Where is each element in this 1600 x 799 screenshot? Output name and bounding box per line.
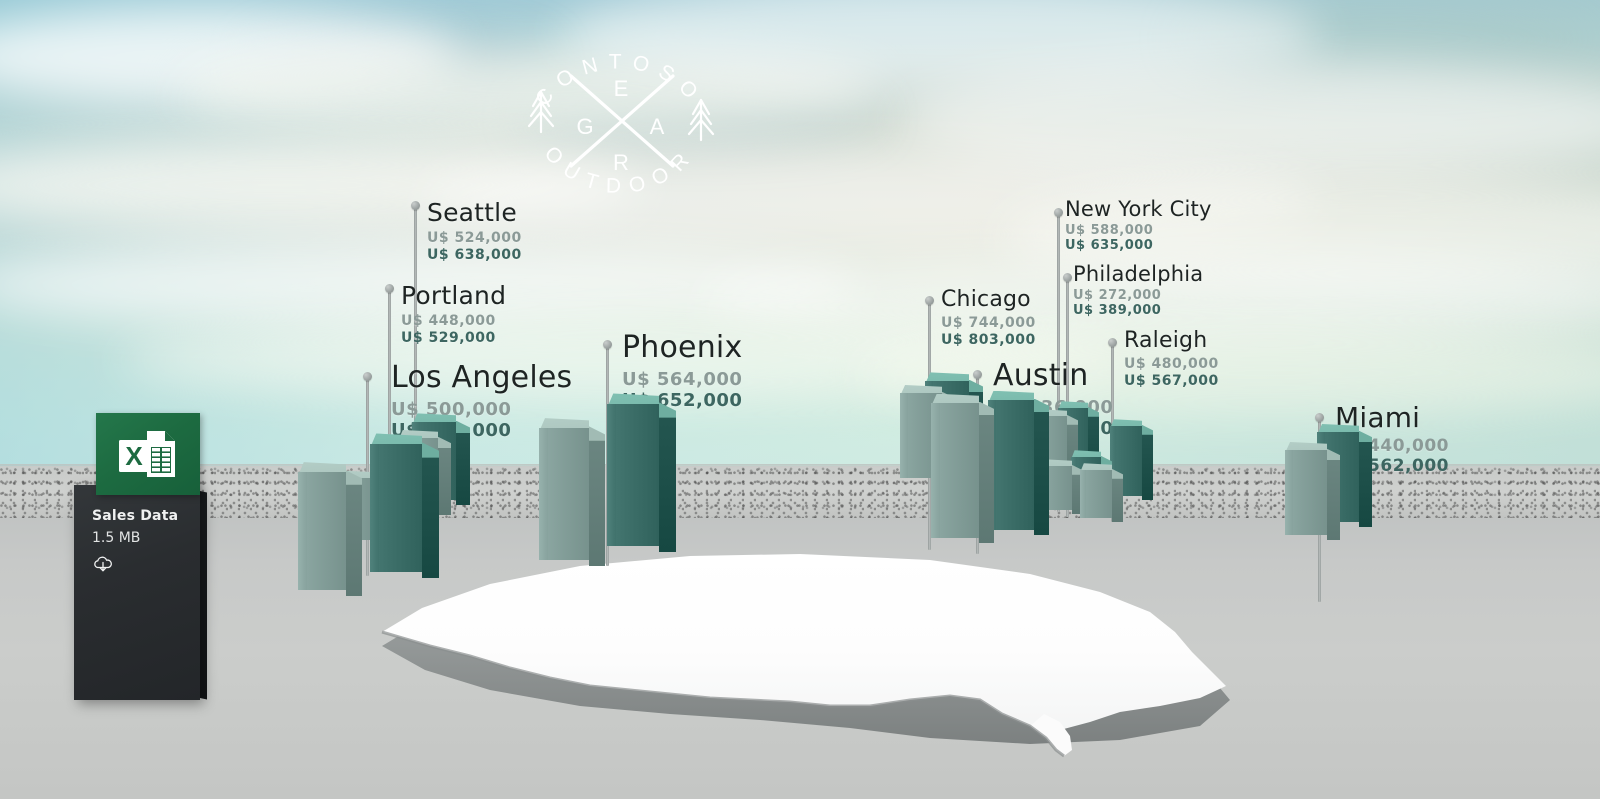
sales-data-file-card[interactable]: X Sales Data 1.5 MB [74,413,206,702]
city-value-current: U$ 389,000 [1073,303,1203,318]
city-bars-layer [0,0,1600,799]
file-size-label: 1.5 MB [92,530,140,546]
city-value-previous: U$ 448,000 [401,313,506,330]
bar-side-face [346,481,362,596]
city-value-previous: U$ 524,000 [427,230,522,247]
city-label[interactable]: PhiladelphiaU$ 272,000U$ 389,000 [1073,263,1203,319]
city-name-label: Los Angeles [391,362,572,394]
bar-left-bevel [1285,450,1293,535]
city-pole-dot[interactable] [1063,273,1072,282]
bar-left-bevel [931,403,940,538]
bar-side-face [589,437,605,566]
file-card-side [200,491,207,699]
city-pole-dot[interactable] [1315,413,1324,422]
city-name-label: Seattle [427,200,522,226]
city-bar[interactable] [931,403,979,538]
city-name-label: Portland [401,283,506,309]
bar-side-face [422,453,439,578]
city-value-current: U$ 638,000 [427,247,522,264]
city-value-current: U$ 803,000 [941,332,1036,349]
city-name-label: Austin [993,360,1113,392]
city-name-label: Chicago [941,288,1036,311]
logo-letter-a: A [650,114,665,139]
bar-side-face [1034,408,1049,535]
city-value-current: U$ 567,000 [1124,373,1219,390]
city-bar[interactable] [1285,450,1327,535]
bar-side-face [1359,439,1372,526]
city-value-current: U$ 529,000 [401,330,506,347]
city-pole-dot[interactable] [411,201,420,210]
city-value-previous: U$ 588,000 [1065,223,1212,238]
bar-side-face [438,445,451,514]
city-value-previous: U$ 744,000 [941,315,1036,332]
city-value-previous: U$ 272,000 [1073,288,1203,303]
city-bar[interactable] [607,404,659,546]
city-name-label: Phoenix [622,332,742,364]
bar-left-bevel [900,393,908,478]
sales-map-3d-scene: SeattleU$ 524,000U$ 638,000PortlandU$ 44… [0,0,1600,799]
bar-side-face [1142,432,1153,500]
bar-left-bevel [370,444,379,572]
city-pole-dot[interactable] [925,296,934,305]
city-bar[interactable] [298,472,346,590]
bar-left-bevel [539,428,548,560]
city-value-previous: U$ 564,000 [622,369,742,390]
city-bar[interactable] [539,428,589,560]
bar-side-face [1112,476,1123,522]
city-pole-dot[interactable] [973,370,982,379]
city-pole-dot[interactable] [385,284,394,293]
city-bar[interactable] [988,400,1034,530]
city-bar[interactable] [1080,470,1112,518]
excel-icon-glyph: X [117,427,179,481]
logo-letter-r: R [613,150,629,175]
excel-file-icon: X [96,413,200,495]
bar-top-wedge [1142,425,1153,435]
bar-top-wedge [589,426,605,440]
city-label[interactable]: New York CityU$ 588,000U$ 635,000 [1065,198,1212,254]
city-pole-dot[interactable] [363,372,372,381]
city-pole-dot[interactable] [1054,208,1063,217]
file-name-label: Sales Data [92,508,178,524]
bar-left-bevel [298,472,307,590]
bar-left-bevel [607,404,616,546]
city-value-previous: U$ 480,000 [1124,356,1219,373]
bar-left-bevel [1080,470,1086,518]
logo-letter-g: G [576,114,593,139]
city-label[interactable]: RaleighU$ 480,000U$ 567,000 [1124,329,1219,389]
city-label[interactable]: SeattleU$ 524,000U$ 638,000 [427,200,522,263]
city-pole-dot[interactable] [1108,338,1117,347]
contoso-gear-outdoor-logo: CONTOSO OUTDOOR E G A R [505,14,735,209]
logo-svg: CONTOSO OUTDOOR E G A R [505,14,735,209]
bar-side-face [659,413,676,552]
city-value-current: U$ 635,000 [1065,238,1212,253]
city-label[interactable]: ChicagoU$ 744,000U$ 803,000 [941,288,1036,348]
city-label[interactable]: PortlandU$ 448,000U$ 529,000 [401,283,506,346]
city-name-label: New York City [1065,198,1212,220]
logo-letter-e: E [614,76,629,101]
bar-side-face [979,411,994,543]
bar-side-face [1327,457,1340,539]
city-name-label: Philadelphia [1073,263,1203,285]
city-name-label: Raleigh [1124,329,1219,352]
city-pole-dot[interactable] [603,340,612,349]
city-bar[interactable] [370,444,422,572]
svg-text:X: X [125,441,143,471]
cloud-download-icon[interactable] [92,555,114,573]
bar-side-face [456,430,470,505]
